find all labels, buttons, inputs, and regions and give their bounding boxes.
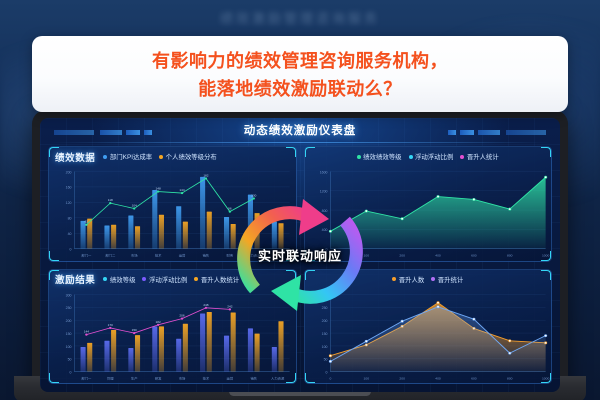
- legend-swatch-icon: [103, 277, 107, 281]
- dashboard-title-divider: [50, 142, 550, 143]
- legend-label: 浮动浮动比例: [149, 275, 187, 284]
- svg-text:200: 200: [321, 319, 327, 323]
- svg-text:144: 144: [179, 188, 185, 192]
- svg-text:财务: 财务: [227, 253, 234, 258]
- legend-swatch-icon: [460, 155, 464, 159]
- svg-text:150: 150: [66, 331, 72, 335]
- svg-text:250: 250: [66, 306, 72, 310]
- dashboard-screen: 动态绩效激励仪表盘 绩效数据: [40, 118, 560, 392]
- svg-text:242: 242: [227, 304, 233, 308]
- chart-plot-area: 04008001200160001002004006008001000: [305, 166, 552, 261]
- svg-text:104: 104: [132, 204, 138, 208]
- headline-line-1: 有影响力的绩效管理咨询服务机构，: [152, 47, 448, 73]
- svg-text:部门一: 部门一: [81, 253, 92, 258]
- svg-text:技术: 技术: [155, 253, 162, 258]
- headline-banner: 有影响力的绩效管理咨询服务机构， 能落地绩效激励联动么？: [32, 36, 568, 112]
- svg-text:100: 100: [363, 254, 369, 258]
- svg-text:600: 600: [471, 376, 477, 380]
- chart-legend: 晋升人数 晋升统计: [311, 275, 546, 284]
- chart-plot-area: 040801201602006211810414814418296130部门一部…: [49, 166, 296, 261]
- svg-text:1600: 1600: [319, 170, 327, 174]
- legend-label: 晋升统计: [438, 275, 464, 284]
- svg-text:200: 200: [66, 319, 72, 323]
- panel-header: 绩效绩效等级 浮动浮动比例 晋升人统计: [305, 147, 552, 166]
- legend-item[interactable]: 绩效绩效等级: [357, 152, 402, 161]
- svg-text:0: 0: [329, 376, 331, 380]
- title-decoration-left: [54, 129, 174, 136]
- legend-label: 绩效绩效等级: [363, 152, 401, 161]
- legend-swatch-icon: [142, 277, 146, 281]
- svg-text:130: 130: [251, 194, 257, 198]
- legend-item[interactable]: 晋升人统计: [460, 152, 498, 161]
- legend-item[interactable]: 晋升人数统计: [194, 275, 239, 284]
- svg-text:50: 50: [323, 357, 327, 361]
- legend-swatch-icon: [103, 155, 107, 159]
- panel-header: 晋升人数 晋升统计: [305, 270, 552, 289]
- legend-label: 浮动浮动比例: [415, 152, 453, 161]
- svg-text:研发: 研发: [155, 375, 162, 380]
- svg-text:0: 0: [325, 248, 327, 252]
- svg-text:1200: 1200: [319, 190, 327, 194]
- panel-title: 绩效数据: [55, 150, 95, 164]
- svg-text:250: 250: [321, 306, 327, 310]
- legend-label: 晋升人统计: [467, 152, 499, 161]
- svg-text:800: 800: [321, 209, 327, 213]
- svg-text:206: 206: [179, 313, 185, 317]
- svg-text:120: 120: [66, 201, 72, 205]
- panel-promotion-stats[interactable]: 晋升人数 晋升统计 050100150200250300010020040060…: [304, 269, 553, 385]
- svg-text:0: 0: [325, 370, 327, 374]
- svg-text:部门一: 部门一: [81, 375, 92, 380]
- legend-swatch-icon: [431, 277, 435, 281]
- svg-text:40: 40: [68, 232, 72, 236]
- svg-text:市场: 市场: [179, 375, 186, 380]
- svg-text:160: 160: [66, 186, 72, 190]
- legend-label: 部门KPI达成率: [110, 152, 152, 161]
- svg-text:运营: 运营: [227, 375, 234, 380]
- legend-item[interactable]: 浮动浮动比例: [409, 152, 454, 161]
- svg-text:200: 200: [399, 254, 405, 258]
- legend-swatch-icon: [159, 155, 163, 159]
- legend-item[interactable]: 浮动浮动比例: [142, 275, 187, 284]
- svg-text:人力资源: 人力资源: [247, 253, 261, 258]
- svg-text:0: 0: [70, 248, 72, 252]
- svg-text:200: 200: [66, 170, 72, 174]
- svg-text:400: 400: [321, 228, 327, 232]
- svg-text:800: 800: [507, 376, 513, 380]
- svg-text:182: 182: [156, 319, 162, 323]
- svg-text:800: 800: [507, 254, 513, 258]
- legend-label: 晋升人数: [399, 275, 425, 284]
- legend-swatch-icon: [409, 155, 413, 159]
- svg-text:248: 248: [203, 302, 209, 306]
- background-watermark-text: 绩效激励管理咨询服务: [0, 8, 600, 27]
- legend-swatch-icon: [194, 277, 198, 281]
- svg-text:200: 200: [399, 376, 405, 380]
- svg-text:100: 100: [321, 344, 327, 348]
- panel-incentive-results[interactable]: 激励结果 绩效等级 浮动浮动比例 晋升人数统计: [48, 269, 297, 385]
- svg-text:管理: 管理: [107, 375, 114, 380]
- panel-header: 绩效数据 部门KPI达成率 个人绩效等级分布: [49, 147, 296, 166]
- legend-swatch-icon: [392, 277, 396, 281]
- legend-item[interactable]: 绩效等级: [103, 275, 135, 284]
- svg-text:部门二: 部门二: [105, 253, 115, 258]
- chart-legend: 部门KPI达成率 个人绩效等级分布: [103, 152, 289, 161]
- svg-text:销售: 销售: [250, 375, 257, 380]
- dashboard-title-bar: 动态绩效激励仪表盘: [40, 118, 560, 142]
- svg-text:170: 170: [108, 323, 114, 327]
- legend-item[interactable]: 晋升人数: [392, 275, 424, 284]
- svg-text:技术: 技术: [203, 375, 210, 380]
- legend-label: 绩效等级: [110, 275, 136, 284]
- legend-label: 个人绩效等级分布: [166, 152, 217, 161]
- svg-text:144: 144: [84, 329, 90, 333]
- svg-text:148: 148: [156, 187, 162, 191]
- chart-legend: 绩效绩效等级 浮动浮动比例 晋升人统计: [311, 152, 546, 161]
- legend-label: 晋升人数统计: [201, 275, 239, 284]
- panel-header: 激励结果 绩效等级 浮动浮动比例 晋升人数统计: [49, 270, 296, 289]
- panel-title: 激励结果: [55, 272, 95, 286]
- legend-item[interactable]: 个人绩效等级分布: [159, 152, 217, 161]
- dashboard-title: 动态绩效激励仪表盘: [244, 122, 357, 138]
- laptop-device: 有影响力的绩效管理咨询服务机构， 能落地绩效激励联动么？ 动态绩效激励仪表盘: [32, 36, 568, 400]
- svg-text:300: 300: [321, 293, 327, 297]
- svg-text:96: 96: [228, 207, 232, 211]
- svg-text:400: 400: [435, 376, 441, 380]
- svg-text:50: 50: [68, 357, 72, 361]
- svg-text:80: 80: [68, 217, 72, 221]
- svg-text:销售: 销售: [203, 253, 210, 258]
- svg-text:市场: 市场: [131, 253, 138, 258]
- svg-text:100: 100: [66, 344, 72, 348]
- legend-swatch-icon: [357, 155, 361, 159]
- chart-plot-area: 05010015020025030001002004006008001000: [305, 289, 552, 384]
- svg-text:1000: 1000: [541, 376, 549, 380]
- chart-legend: 绩效等级 浮动浮动比例 晋升人数统计: [103, 275, 289, 284]
- svg-text:人力资源: 人力资源: [271, 375, 285, 380]
- svg-text:150: 150: [321, 331, 327, 335]
- svg-text:运营: 运营: [179, 253, 186, 258]
- legend-item[interactable]: 晋升统计: [431, 275, 463, 284]
- panel-performance-data[interactable]: 绩效数据 部门KPI达成率 个人绩效等级分布 04080120160200621: [48, 146, 297, 262]
- svg-text:118: 118: [108, 198, 113, 202]
- svg-text:客服: 客服: [274, 253, 281, 258]
- panel-grid: 绩效数据 部门KPI达成率 个人绩效等级分布 04080120160200621: [48, 146, 552, 384]
- title-decoration-right: [426, 129, 546, 136]
- svg-text:300: 300: [66, 293, 72, 297]
- svg-text:生产: 生产: [131, 375, 138, 380]
- svg-text:600: 600: [471, 254, 477, 258]
- panel-performance-trend[interactable]: 绩效绩效等级 浮动浮动比例 晋升人统计 040080012001600010: [304, 146, 553, 262]
- svg-text:62: 62: [85, 220, 89, 224]
- svg-text:182: 182: [203, 174, 209, 178]
- svg-text:0: 0: [70, 370, 72, 374]
- headline-line-2: 能落地绩效激励联动么？: [198, 75, 402, 101]
- svg-text:1000: 1000: [541, 254, 549, 258]
- svg-text:100: 100: [363, 376, 369, 380]
- chart-plot-area: 050100150200250300144170150182206248242部…: [49, 289, 296, 384]
- svg-text:0: 0: [329, 254, 331, 258]
- svg-text:150: 150: [132, 328, 138, 332]
- svg-text:400: 400: [435, 254, 441, 258]
- legend-item[interactable]: 部门KPI达成率: [103, 152, 152, 161]
